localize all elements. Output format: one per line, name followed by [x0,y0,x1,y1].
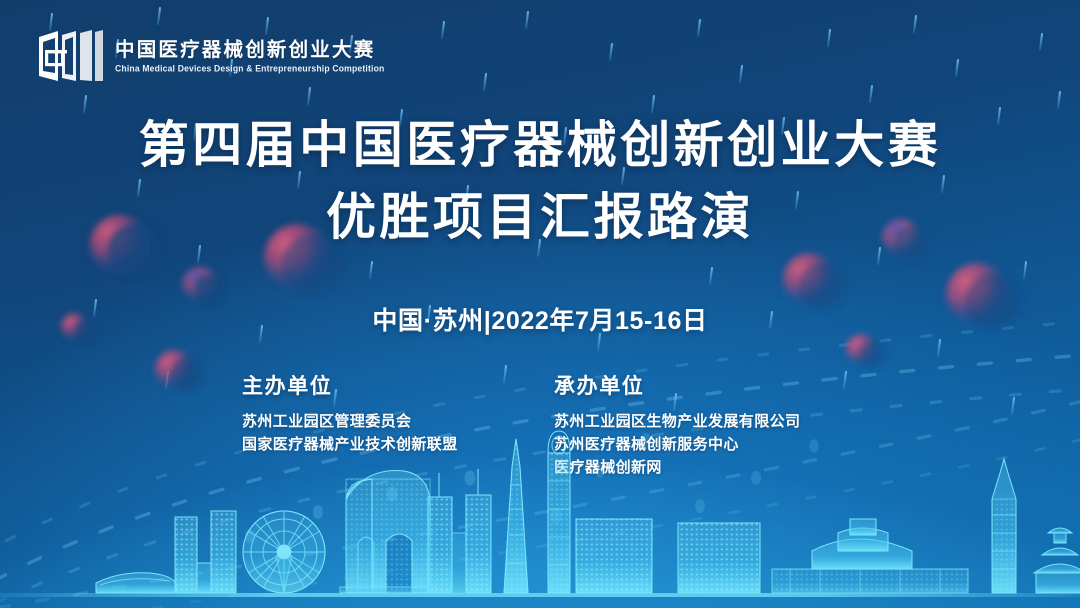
landmark-ferris-wheel [243,511,325,593]
organizer-item: 医疗器械创新网 [554,457,850,480]
logo-wordmark: 中国医疗器械创新创业大赛 China Medical Devices Desig… [115,40,384,73]
organizer-item: 苏州工业园区生物产业发展有限公司 [554,411,850,434]
event-location-date: 中国·苏州|2022年7月15-16日 [0,301,1080,337]
logo-chinese-name: 中国医疗器械创新创业大赛 [115,40,384,62]
landmark-gate-of-the-orient [340,471,436,593]
landmark-grid-block-b [678,523,760,593]
logo-english-name: China Medical Devices Design & Entrepren… [115,63,384,74]
landmark-twin-towers-small [175,511,236,593]
organizer-title: 承办单位 [554,370,850,400]
landmark-exhibition-hall [772,519,968,593]
organizer-item: 苏州医疗器械创新服务中心 [554,434,850,457]
headline-line-2: 优胜项目汇报路演 [0,192,1080,242]
landmark-temple-pavilion [1034,528,1080,593]
organizer-column-host: 主办单位 苏州工业园区管理委员会 国家医疗器械产业技术创新联盟 [230,370,540,479]
headline-line-1: 第四届中国医疗器械创新创业大赛 [0,120,1080,170]
skyline-ground-line [0,593,1080,597]
open-door-gate-logo-icon [36,29,104,84]
poster-headline: 第四届中国医疗器械创新创业大赛 优胜项目汇报路演 [0,120,1080,242]
landmark-twin-spire-towers [428,469,491,593]
poster-canvas: 中国医疗器械创新创业大赛 China Medical Devices Desig… [0,0,1080,608]
organizer-column-coorganizer: 承办单位 苏州工业园区生物产业发展有限公司 苏州医疗器械创新服务中心 医疗器械创… [540,370,850,479]
organizer-item: 苏州工业园区管理委员会 [242,411,540,434]
landmark-grid-block-a [576,519,652,593]
landmark-low-pavilion [96,573,176,593]
organizer-title: 主办单位 [242,370,540,400]
organizer-item: 国家医疗器械产业技术创新联盟 [242,434,540,457]
event-logo: 中国医疗器械创新创业大赛 China Medical Devices Desig… [36,29,384,84]
organizer-section: 主办单位 苏州工业园区管理委员会 国家医疗器械产业技术创新联盟 承办单位 苏州工… [0,370,1080,479]
